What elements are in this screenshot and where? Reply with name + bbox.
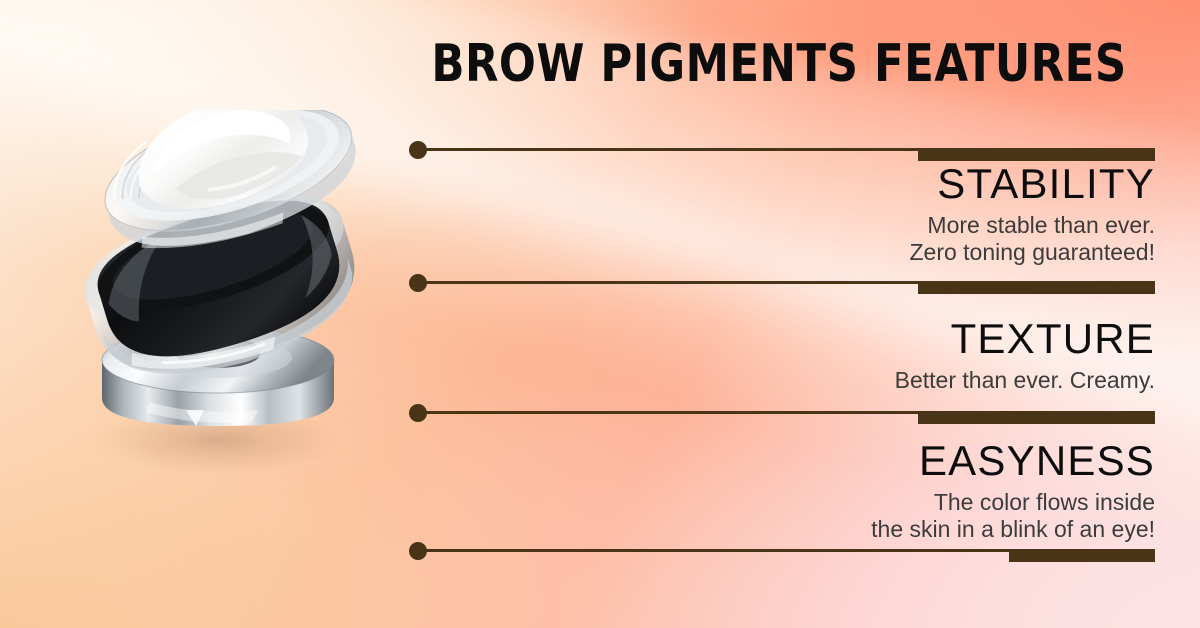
- feature-block-stability: STABILITY More stable than ever. Zero to…: [455, 163, 1155, 266]
- feature-title-stability: STABILITY: [455, 163, 1155, 205]
- feature-description-line: Better than ever. Creamy.: [455, 367, 1155, 394]
- connector-thick-bar-2: [918, 281, 1155, 294]
- feature-description-line: The color flows inside: [455, 489, 1155, 516]
- feature-description-texture: Better than ever. Creamy.: [455, 367, 1155, 394]
- feature-description-easyness: The color flows inside the skin in a bli…: [455, 489, 1155, 543]
- feature-description-line: More stable than ever.: [455, 212, 1155, 239]
- feature-description-stability: More stable than ever. Zero toning guara…: [455, 212, 1155, 266]
- feature-block-easyness: EASYNESS The color flows inside the skin…: [455, 440, 1155, 543]
- connector-thick-bar-3: [918, 411, 1155, 424]
- feature-title-easyness: EASYNESS: [455, 440, 1155, 482]
- feature-title-texture: TEXTURE: [455, 318, 1155, 360]
- feature-description-line: Zero toning guaranteed!: [455, 239, 1155, 266]
- feature-description-line: the skin in a blink of an eye!: [455, 516, 1155, 543]
- connector-thick-bar-4: [1009, 549, 1155, 562]
- feature-block-texture: TEXTURE Better than ever. Creamy.: [455, 318, 1155, 394]
- page-title: BROW PIGMENTS FEATURES: [427, 34, 1132, 94]
- product-image: [46, 110, 386, 510]
